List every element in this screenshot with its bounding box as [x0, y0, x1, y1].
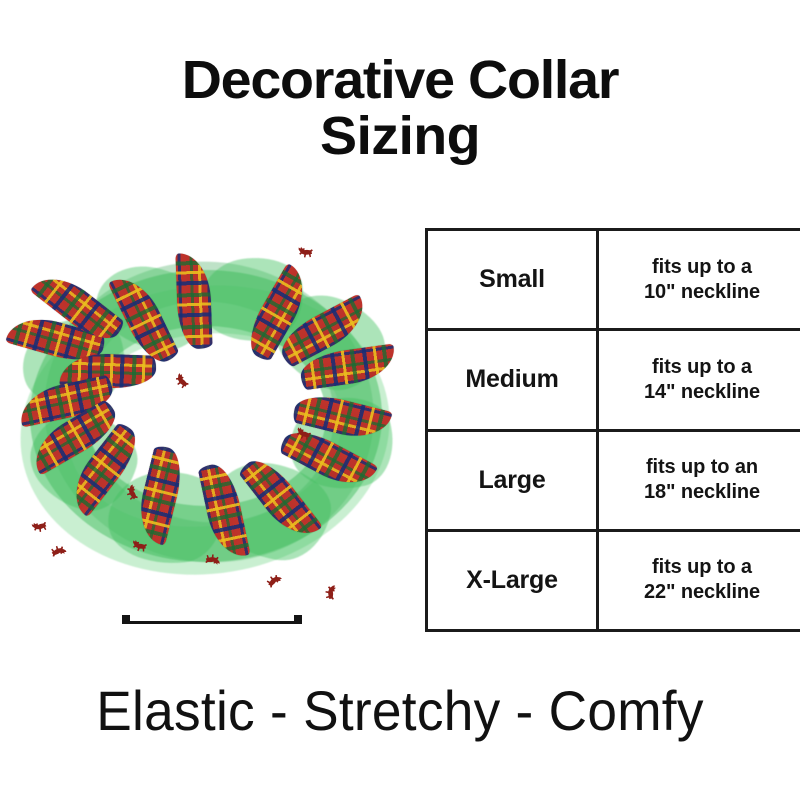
tagline: Elastic - Stretchy - Comfy [20, 681, 780, 741]
table-row: Large fits up to an 18" neckline [427, 430, 800, 530]
table-row: X-Large fits up to a 22" neckline [427, 530, 800, 630]
size-name-small: Small [427, 230, 598, 330]
page-title-line-1: Decorative Collar [0, 52, 800, 108]
measure-rail [126, 621, 298, 624]
fit-line-1: fits up to a [605, 255, 799, 280]
fit-line-1: fits up to an [605, 455, 799, 480]
fit-line-1: fits up to a [605, 555, 799, 580]
table-row: Medium fits up to a 14" neckline [427, 330, 800, 430]
table-row: Small fits up to a 10" neckline [427, 230, 800, 330]
collar-width-indicator [122, 615, 302, 624]
sizing-table: Small fits up to a 10" neckline Medium f… [425, 228, 800, 632]
size-fit-large: fits up to an 18" neckline [598, 430, 800, 530]
fit-line-1: fits up to a [605, 355, 799, 380]
reindeer-icon [317, 580, 345, 609]
size-name-medium: Medium [427, 330, 598, 430]
fit-line-2: 14" neckline [605, 380, 799, 405]
size-name-large: Large [427, 430, 598, 530]
measure-cap-right [294, 615, 302, 624]
fit-line-2: 10" neckline [605, 280, 799, 305]
product-image [4, 228, 410, 624]
size-name-xlarge: X-Large [427, 530, 598, 630]
reindeer-icon [42, 537, 71, 567]
reindeer-icon [293, 423, 318, 446]
size-fit-small: fits up to a 10" neckline [598, 230, 800, 330]
size-fit-medium: fits up to a 14" neckline [598, 330, 800, 430]
reindeer-icon [260, 568, 286, 595]
fit-line-2: 22" neckline [605, 580, 799, 605]
page-title: Decorative Collar Sizing [0, 52, 800, 164]
sizing-graphic-page: Decorative Collar Sizing [0, 0, 800, 800]
collar-illustration [4, 228, 410, 624]
fit-line-2: 18" neckline [605, 480, 799, 505]
reindeer-icon [293, 238, 321, 265]
size-fit-xlarge: fits up to a 22" neckline [598, 530, 800, 630]
page-title-line-2: Sizing [0, 108, 800, 164]
